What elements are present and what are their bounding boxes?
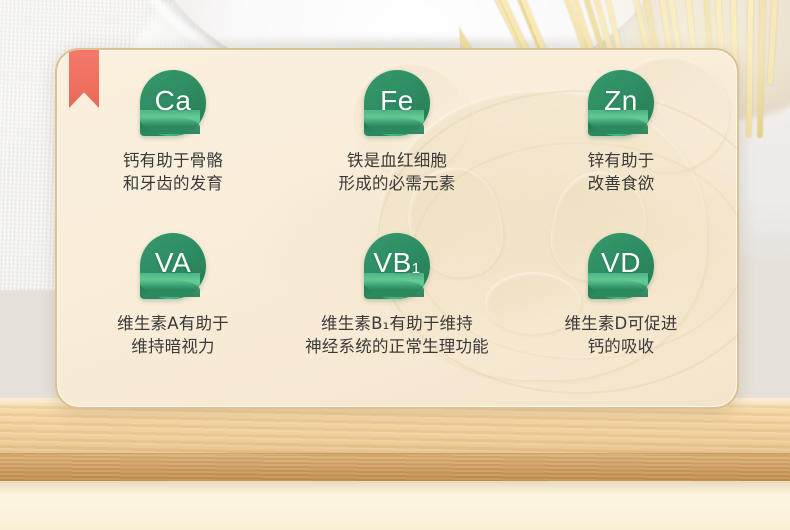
nutrient-caption: 维生素D可促进 钙的吸收	[564, 312, 677, 359]
board-front-edge	[0, 455, 790, 483]
nutrient-card: Ca钙有助于骨骼 和牙齿的发育Fe铁是血红细胞 形成的必需元素Zn锌有助于 改善…	[55, 48, 739, 409]
nutrient-symbol: Zn	[588, 70, 654, 136]
floor-shadow	[0, 481, 790, 495]
nutrient-cell-vitamin-b1: VB1维生素B₁有助于维持 神经系统的正常生理功能	[285, 231, 509, 398]
nutrient-cell-calcium: Ca钙有助于骨骼 和牙齿的发育	[61, 64, 285, 231]
nutrient-caption: 铁是血红细胞 形成的必需元素	[339, 149, 456, 196]
nutrient-cell-vitamin-a: VA维生素A有助于 维持暗视力	[61, 231, 285, 398]
nutrient-badge-calcium: Ca	[140, 70, 206, 136]
nutrient-symbol: VB1	[364, 233, 430, 299]
nutrient-caption: 锌有助于 改善食欲	[588, 149, 655, 196]
nutrient-symbol: VD	[588, 233, 654, 299]
nutrient-cell-iron: Fe铁是血红细胞 形成的必需元素	[285, 64, 509, 231]
nutrient-grid: Ca钙有助于骨骼 和牙齿的发育Fe铁是血红细胞 形成的必需元素Zn锌有助于 改善…	[57, 50, 737, 407]
nutrient-symbol: Ca	[140, 70, 206, 136]
nutrient-caption: 维生素A有助于 维持暗视力	[117, 312, 229, 359]
nutrient-badge-zinc: Zn	[588, 70, 654, 136]
nutrient-symbol-subscript: 1	[412, 260, 421, 277]
nutrient-badge-vitamin-b1: VB1	[364, 233, 430, 299]
nutrient-badge-iron: Fe	[364, 70, 430, 136]
nutrient-symbol: VA	[140, 233, 206, 299]
nutrient-cell-zinc: Zn锌有助于 改善食欲	[509, 64, 733, 231]
nutrient-caption: 维生素B₁有助于维持 神经系统的正常生理功能	[305, 312, 489, 359]
nutrient-symbol: Fe	[364, 70, 430, 136]
nutrient-cell-vitamin-d: VD维生素D可促进 钙的吸收	[509, 231, 733, 398]
nutrient-badge-vitamin-a: VA	[140, 233, 206, 299]
nutrient-caption: 钙有助于骨骼 和牙齿的发育	[123, 149, 223, 196]
screenshot-stage: Ca钙有助于骨骼 和牙齿的发育Fe铁是血红细胞 形成的必需元素Zn锌有助于 改善…	[0, 0, 790, 530]
nutrient-badge-vitamin-d: VD	[588, 233, 654, 299]
